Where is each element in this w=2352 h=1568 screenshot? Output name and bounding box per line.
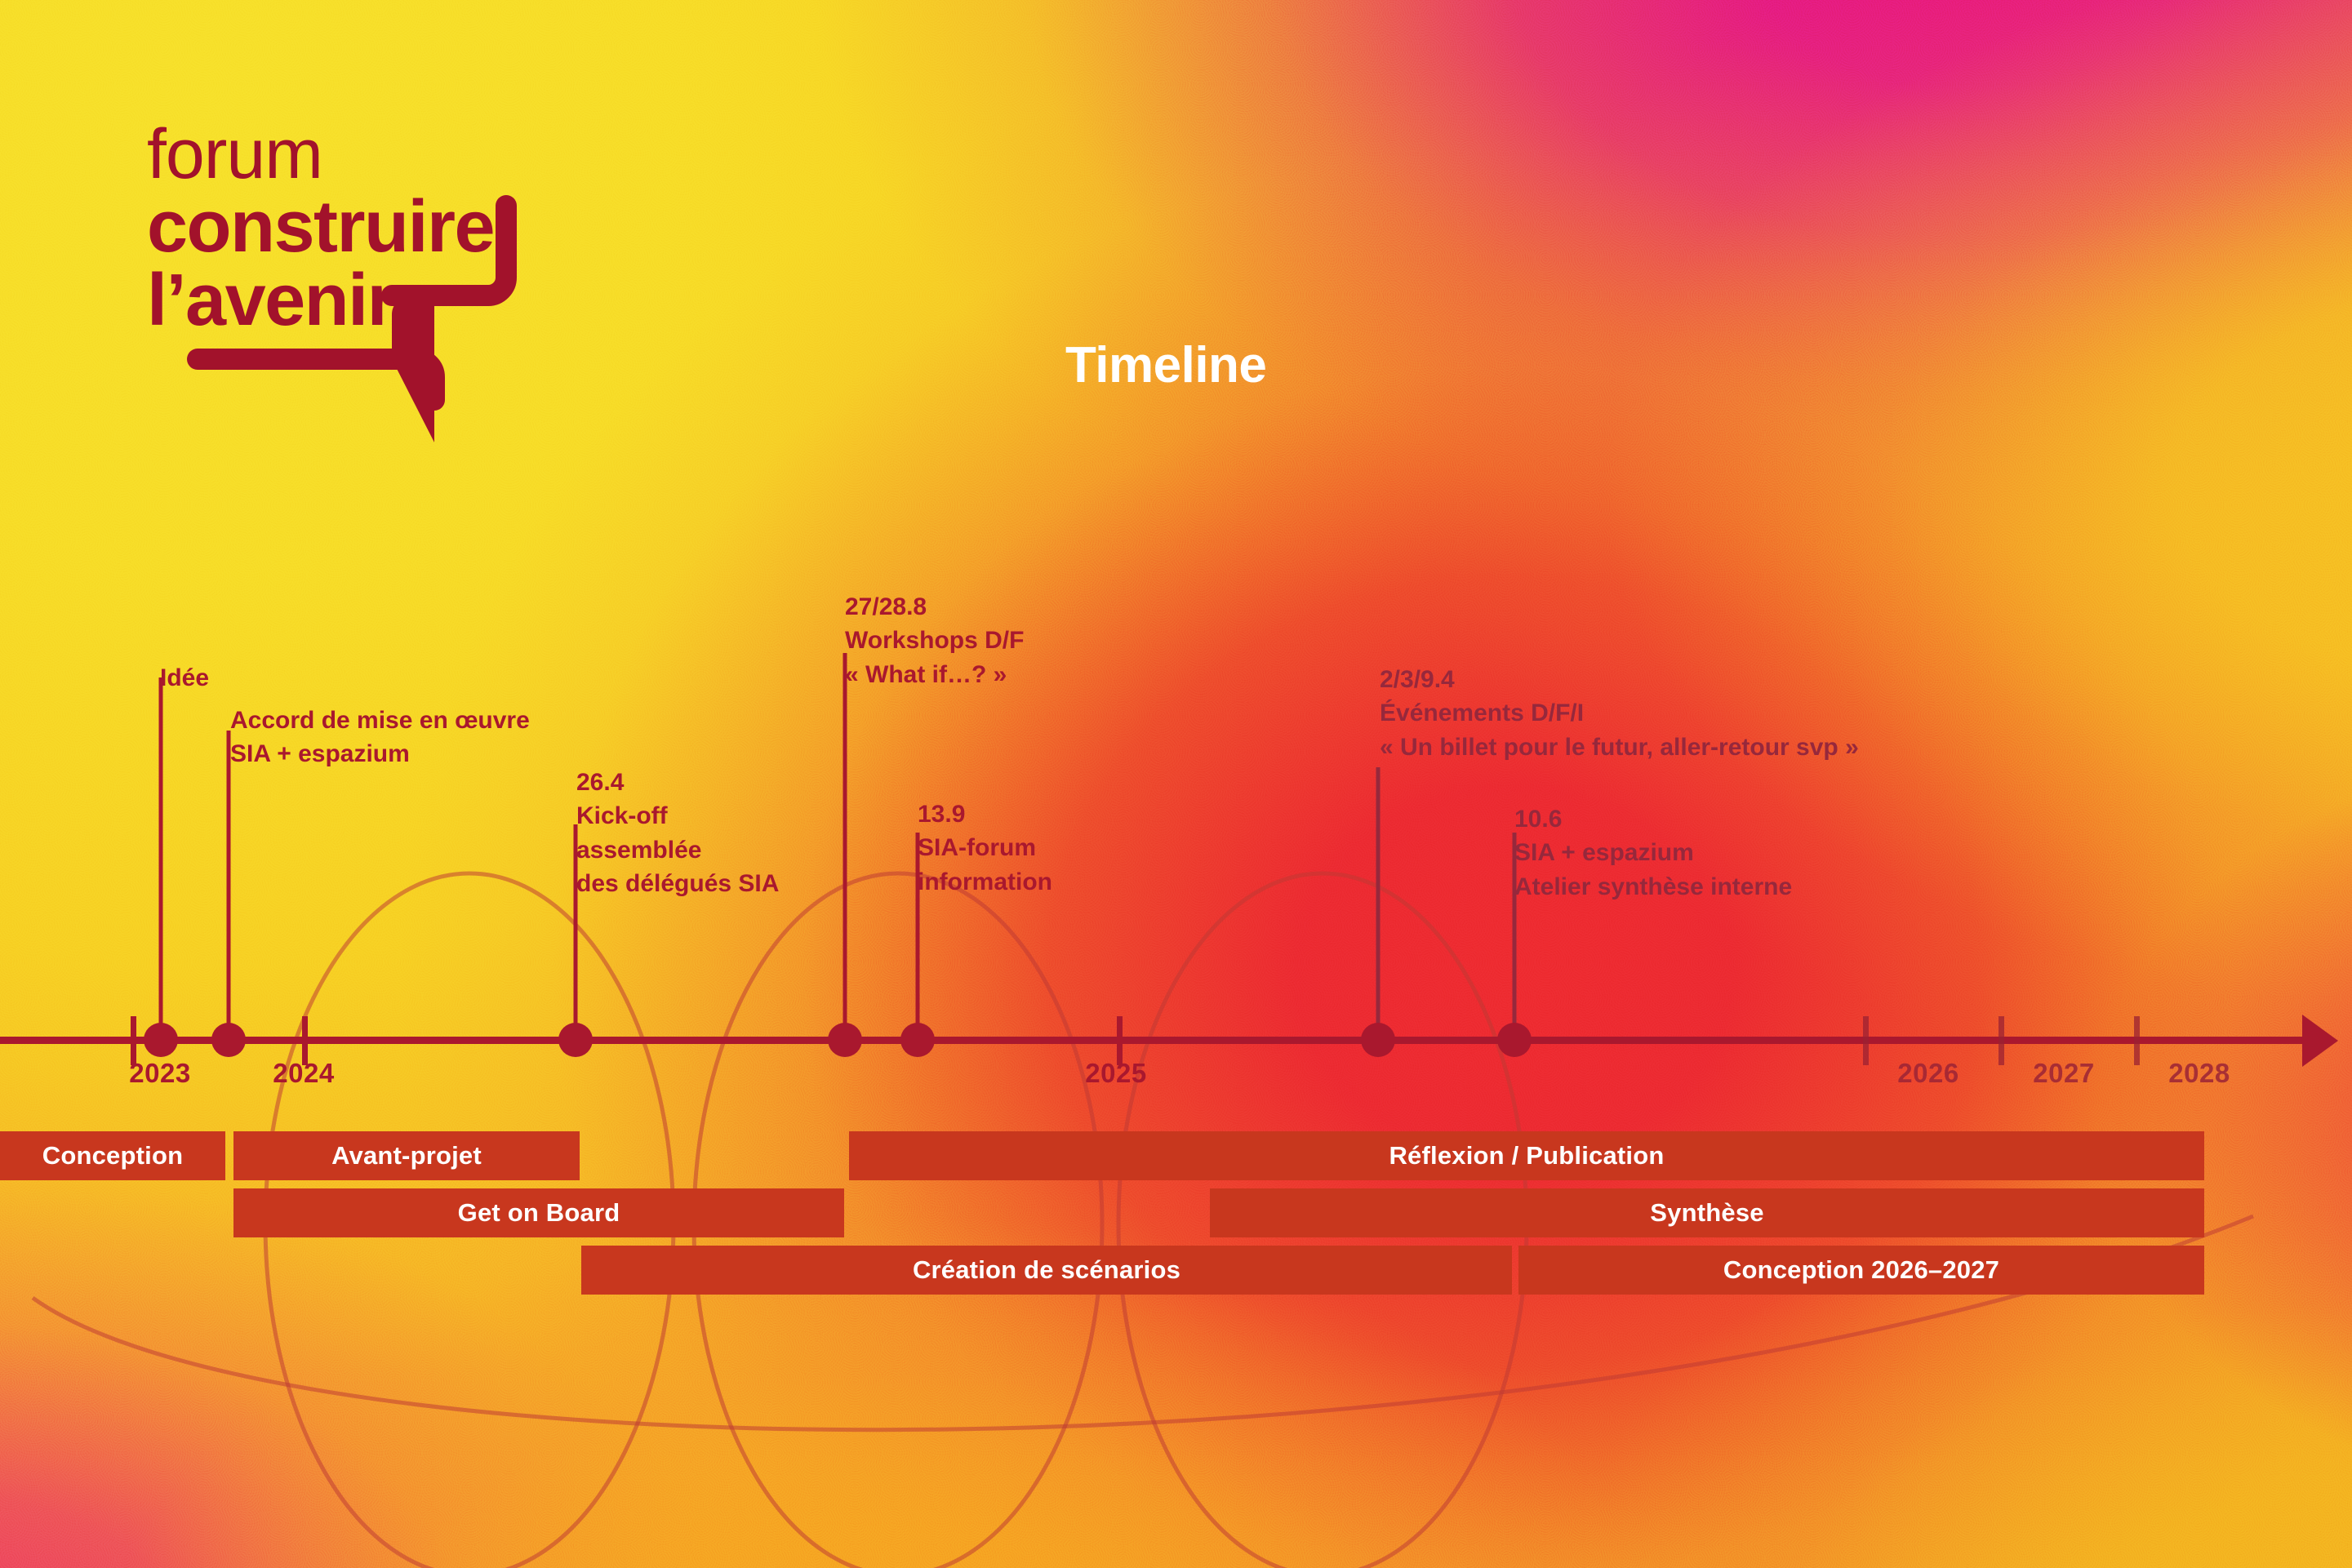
milestone-label: 27/28.8 Workshops D/F « What if…? »: [845, 590, 1024, 691]
milestone-label: 13.9 SIA-forum information: [918, 797, 1052, 899]
phase-bar[interactable]: Création de scénarios: [581, 1246, 1512, 1295]
milestone-label: Idée: [160, 661, 209, 695]
phase-bar[interactable]: Conception: [0, 1131, 225, 1180]
axis-year-label: 2023: [129, 1058, 190, 1089]
axis-year-label: 2026: [1897, 1058, 1959, 1089]
milestone-dot[interactable]: [828, 1023, 862, 1057]
phase-bar[interactable]: Synthèse: [1210, 1188, 2204, 1237]
milestone-leader-line: [159, 677, 163, 1037]
axis-tick: [1863, 1016, 1869, 1065]
axis-year-label: 2027: [2033, 1058, 2094, 1089]
milestone-leader-line: [843, 653, 847, 1037]
milestone-label: 2/3/9.4 Événements D/F/I « Un billet pou…: [1380, 663, 1859, 764]
axis-year-label: 2028: [2168, 1058, 2230, 1089]
milestone-leader-line: [227, 731, 231, 1037]
milestone-dot[interactable]: [558, 1023, 593, 1057]
axis-year-label: 2024: [273, 1058, 334, 1089]
timeline-poster: forum construire l’avenir Timeline 20232…: [0, 0, 2352, 1568]
milestone-leader-line: [1376, 767, 1381, 1037]
phase-bar[interactable]: Get on Board: [233, 1188, 844, 1237]
phase-bar[interactable]: Avant-projet: [233, 1131, 580, 1180]
axis-arrow-icon: [2302, 1015, 2338, 1067]
timeline-axis: 202320242025202620272028 IdéeAccord de m…: [0, 0, 2352, 1568]
axis-tick: [2134, 1016, 2140, 1065]
milestone-dot[interactable]: [1497, 1023, 1532, 1057]
phase-bar[interactable]: Conception 2026–2027: [1518, 1246, 2204, 1295]
milestone-dot[interactable]: [1361, 1023, 1395, 1057]
axis-year-label: 2025: [1085, 1058, 1146, 1089]
milestone-label: 26.4 Kick-off assemblée des délégués SIA: [576, 766, 779, 901]
milestone-label: Accord de mise en œuvre SIA + espazium: [230, 704, 530, 771]
milestone-dot[interactable]: [900, 1023, 935, 1057]
axis-tick: [1999, 1016, 2004, 1065]
phase-bar-chart: ConceptionAvant-projetRéflexion / Public…: [0, 1131, 2352, 1295]
phase-bar[interactable]: Réflexion / Publication: [849, 1131, 2204, 1180]
milestone-dot[interactable]: [211, 1023, 246, 1057]
milestone-label: 10.6 SIA + espazium Atelier synthèse int…: [1514, 802, 1792, 904]
axis-line: [0, 1037, 2309, 1044]
milestone-dot[interactable]: [144, 1023, 178, 1057]
